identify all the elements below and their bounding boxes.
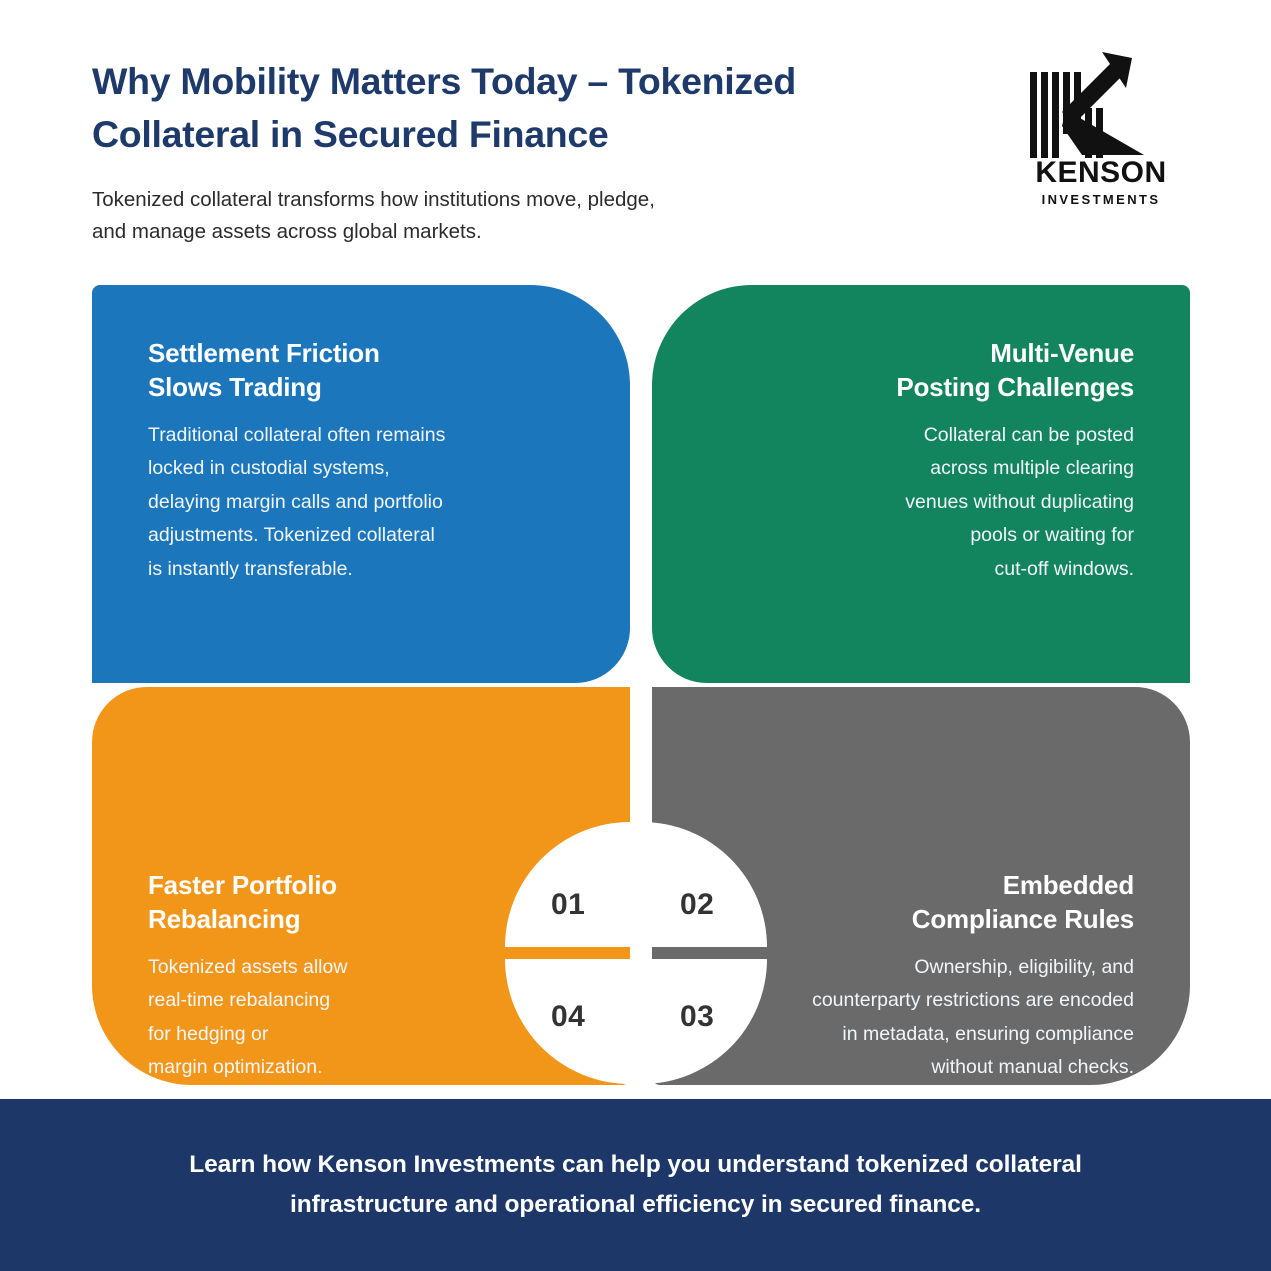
card-desc-02-line-3: venues without duplicating [734, 486, 1134, 520]
page-subtitle: Tokenized collateral transforms how inst… [92, 184, 972, 250]
card-body-03: Embedded Compliance Rules Ownership, eli… [734, 869, 1134, 1085]
card-title-03-line-2: Compliance Rules [734, 903, 1134, 937]
page-title-line-1: Why Mobility Matters Today – Tokenized [92, 55, 972, 108]
card-desc-03-line-3: in metadata, ensuring compliance [734, 1018, 1134, 1052]
kenson-k-arrow-icon [1026, 50, 1176, 158]
page-title: Why Mobility Matters Today – Tokenized C… [92, 55, 972, 162]
card-desc-01-line-5: is instantly transferable. [148, 553, 548, 587]
header: Why Mobility Matters Today – Tokenized C… [0, 0, 1271, 285]
card-desc-01-line-3: delaying margin calls and portfolio [148, 486, 548, 520]
card-title-02: Multi-Venue Posting Challenges [734, 337, 1134, 405]
footer-cta-line-1: Learn how Kenson Investments can help yo… [71, 1145, 1201, 1185]
card-desc-01-line-1: Traditional collateral often remains [148, 419, 548, 453]
footer-cta-line-2: infrastructure and operational efficienc… [71, 1185, 1201, 1225]
page-subtitle-line-1: Tokenized collateral transforms how inst… [92, 184, 972, 217]
card-desc-04-line-3: for hedging or [148, 1018, 548, 1052]
card-desc-02-line-5: cut-off windows. [734, 553, 1134, 587]
card-title-04-line-1: Faster Portfolio [148, 869, 548, 903]
card-desc-04: Tokenized assets allow real-time rebalan… [148, 951, 548, 1085]
center-hub: 01 02 04 03 [505, 822, 767, 1084]
card-title-04: Faster Portfolio Rebalancing [148, 869, 548, 937]
card-desc-03-line-4: without manual checks. [734, 1051, 1134, 1085]
card-title-01-line-1: Settlement Friction [148, 337, 548, 371]
card-desc-01-line-4: adjustments. Tokenized collateral [148, 519, 548, 553]
quadrant-grid: Settlement Friction Slows Trading Tradit… [0, 285, 1271, 1095]
logo-tagline: INVESTMENTS [1012, 193, 1190, 206]
card-title-01: Settlement Friction Slows Trading [148, 337, 548, 405]
card-desc-01: Traditional collateral often remains loc… [148, 419, 548, 587]
hub-quadrant-top-right [642, 822, 767, 947]
page-subtitle-line-2: and manage assets across global markets. [92, 216, 972, 249]
card-title-03: Embedded Compliance Rules [734, 869, 1134, 937]
card-title-03-line-1: Embedded [734, 869, 1134, 903]
infographic-page: Why Mobility Matters Today – Tokenized C… [0, 0, 1271, 1271]
hub-number-02: 02 [680, 890, 714, 920]
footer-cta-text: Learn how Kenson Investments can help yo… [71, 1145, 1201, 1224]
card-desc-03: Ownership, eligibility, and counterparty… [734, 951, 1134, 1085]
footer-cta-banner: Learn how Kenson Investments can help yo… [0, 1099, 1271, 1271]
card-desc-03-line-1: Ownership, eligibility, and [734, 951, 1134, 985]
card-settlement-friction[interactable]: Settlement Friction Slows Trading Tradit… [92, 285, 630, 683]
card-body-01: Settlement Friction Slows Trading Tradit… [148, 337, 548, 586]
card-title-02-line-1: Multi-Venue [734, 337, 1134, 371]
card-desc-02: Collateral can be posted across multiple… [734, 419, 1134, 587]
card-body-02: Multi-Venue Posting Challenges Collatera… [734, 337, 1134, 586]
card-desc-03-line-2: counterparty restrictions are encoded [734, 984, 1134, 1018]
card-desc-04-line-2: real-time rebalancing [148, 984, 548, 1018]
page-title-line-2: Collateral in Secured Finance [92, 108, 972, 161]
hub-quadrant-top-left [505, 822, 630, 947]
card-body-04: Faster Portfolio Rebalancing Tokenized a… [148, 869, 548, 1085]
card-desc-02-line-4: pools or waiting for [734, 519, 1134, 553]
hub-number-01: 01 [551, 890, 585, 920]
card-desc-04-line-4: margin optimization. [148, 1051, 548, 1085]
header-text-block: Why Mobility Matters Today – Tokenized C… [92, 55, 972, 249]
brand-logo: KENSON INVESTMENTS [1012, 50, 1190, 210]
card-desc-02-line-1: Collateral can be posted [734, 419, 1134, 453]
card-title-02-line-2: Posting Challenges [734, 371, 1134, 405]
card-desc-04-line-1: Tokenized assets allow [148, 951, 548, 985]
card-title-04-line-2: Rebalancing [148, 903, 548, 937]
card-desc-02-line-2: across multiple clearing [734, 452, 1134, 486]
card-title-01-line-2: Slows Trading [148, 371, 548, 405]
card-multi-venue-posting[interactable]: Multi-Venue Posting Challenges Collatera… [652, 285, 1190, 683]
logo-wordmark: KENSON [1012, 158, 1190, 188]
hub-number-04: 04 [551, 1002, 585, 1032]
hub-number-03: 03 [680, 1002, 714, 1032]
card-desc-01-line-2: locked in custodial systems, [148, 452, 548, 486]
